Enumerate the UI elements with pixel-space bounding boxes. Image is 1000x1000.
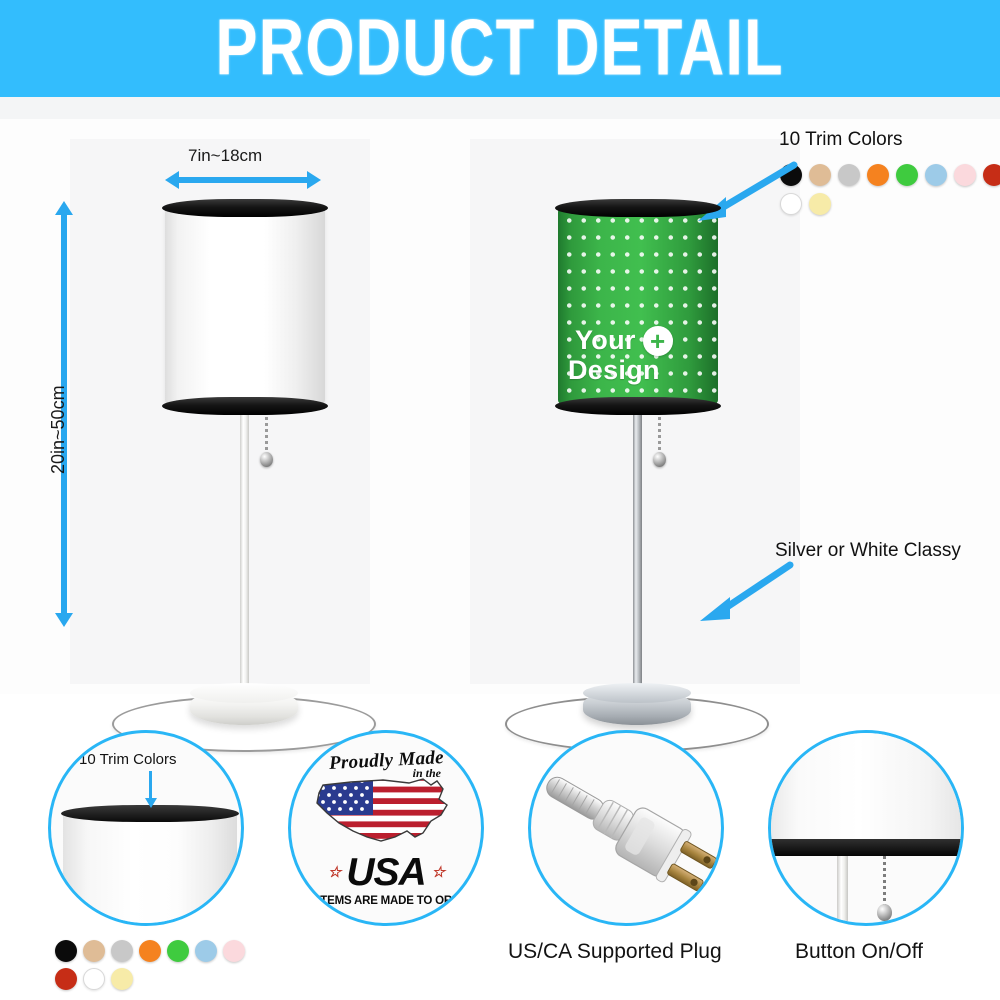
swatch-gray[interactable]: [838, 164, 860, 186]
plus-icon: +: [643, 326, 673, 356]
shade-trim-bottom: [162, 397, 328, 415]
circle-pull-chain-ball[interactable]: [877, 904, 892, 921]
circle-shade-trim: [768, 839, 964, 856]
feature-caption-plug: US/CA Supported Plug: [508, 940, 722, 964]
shade-surface: [165, 208, 325, 404]
header-divider: [0, 97, 1000, 119]
feature-caption-switch: Button On/Off: [795, 940, 923, 964]
shade-trim-top: [162, 199, 328, 217]
swatch-pink[interactable]: [223, 940, 245, 962]
circle-trim-arrow-icon: [149, 771, 152, 799]
page-title: PRODUCT DETAIL: [216, 3, 784, 94]
swatch-green[interactable]: [167, 940, 189, 962]
power-plug-icon: [531, 733, 724, 926]
width-dimension-label: 7in~18cm: [188, 146, 262, 166]
lamp-shade-white: [165, 199, 325, 411]
feature-circle-made-in-usa: Proudly Made in the: [288, 730, 484, 926]
base-finish-callout-arrow-icon: [690, 549, 800, 629]
swatch-green[interactable]: [896, 164, 918, 186]
trim-callout-arrow-icon: [692, 157, 802, 227]
swatch-yellow[interactable]: [111, 968, 133, 990]
usa-badge-headline-wrap: ☆ USA ☆: [328, 853, 444, 892]
swatch-white[interactable]: [83, 968, 105, 990]
height-dimension-label: 20in~50cm: [48, 385, 69, 474]
usa-badge-headline: USA: [346, 853, 425, 892]
lamp-pole: [633, 411, 642, 699]
design-line-2: Design: [566, 357, 710, 385]
swatch-tan[interactable]: [83, 940, 105, 962]
your-design-artwork: Your + Design: [566, 326, 710, 385]
circle-shade-surface: [768, 730, 964, 841]
trim-colors-callout-label: 10 Trim Colors: [779, 129, 903, 151]
width-dimension-arrow: [178, 177, 308, 183]
feature-trim-swatch-row: [55, 940, 265, 990]
swatch-red[interactable]: [983, 164, 1000, 186]
swatch-orange[interactable]: [867, 164, 889, 186]
usa-flag-map-icon: [311, 775, 461, 851]
star-left-icon: ☆: [328, 865, 340, 880]
usa-badge: Proudly Made in the: [291, 733, 481, 923]
pull-chain[interactable]: [265, 411, 268, 455]
feature-circle-trim-colors: 10 Trim Colors: [48, 730, 244, 926]
base-finish-callout-label: Silver or White Classy: [775, 540, 961, 562]
shade-trim-top: [555, 199, 721, 217]
feature-circle-plug: [528, 730, 724, 926]
product-stage: 20in~50cm 7in~18cm Your +: [0, 119, 1000, 694]
swatch-pink[interactable]: [954, 164, 976, 186]
circle-trim-label: 10 Trim Colors: [79, 751, 177, 768]
feature-circles-row: 10 Trim Colors Proudly Made in the: [0, 700, 1000, 1000]
usa-badge-subtext: ALL ITEMS ARE MADE TO ORDER!: [293, 895, 480, 907]
swatch-gray[interactable]: [111, 940, 133, 962]
swatch-yellow[interactable]: [809, 193, 831, 215]
swatch-red[interactable]: [55, 968, 77, 990]
circle-lamp-pole: [837, 856, 848, 926]
swatch-light-blue[interactable]: [925, 164, 947, 186]
star-right-icon: ☆: [432, 865, 444, 880]
swatch-orange[interactable]: [139, 940, 161, 962]
shade-trim-bottom: [555, 397, 721, 415]
header-banner: PRODUCT DETAIL: [0, 0, 1000, 97]
swatch-light-blue[interactable]: [195, 940, 217, 962]
shade-surface: Your + Design: [558, 208, 718, 404]
circle-pull-chain[interactable]: [883, 856, 886, 906]
feature-circle-switch: [768, 730, 964, 926]
lamp-pole: [240, 411, 249, 699]
pull-chain-ball[interactable]: [653, 452, 666, 467]
design-line-1: Your: [575, 327, 636, 355]
pull-chain[interactable]: [658, 411, 661, 455]
swatch-black[interactable]: [55, 940, 77, 962]
lamp-shade-green: Your + Design: [558, 199, 718, 411]
pull-chain-ball[interactable]: [260, 452, 273, 467]
swatch-tan[interactable]: [809, 164, 831, 186]
circle-shade-surface: [63, 813, 237, 926]
trim-colors-swatch-row: [780, 164, 1000, 215]
